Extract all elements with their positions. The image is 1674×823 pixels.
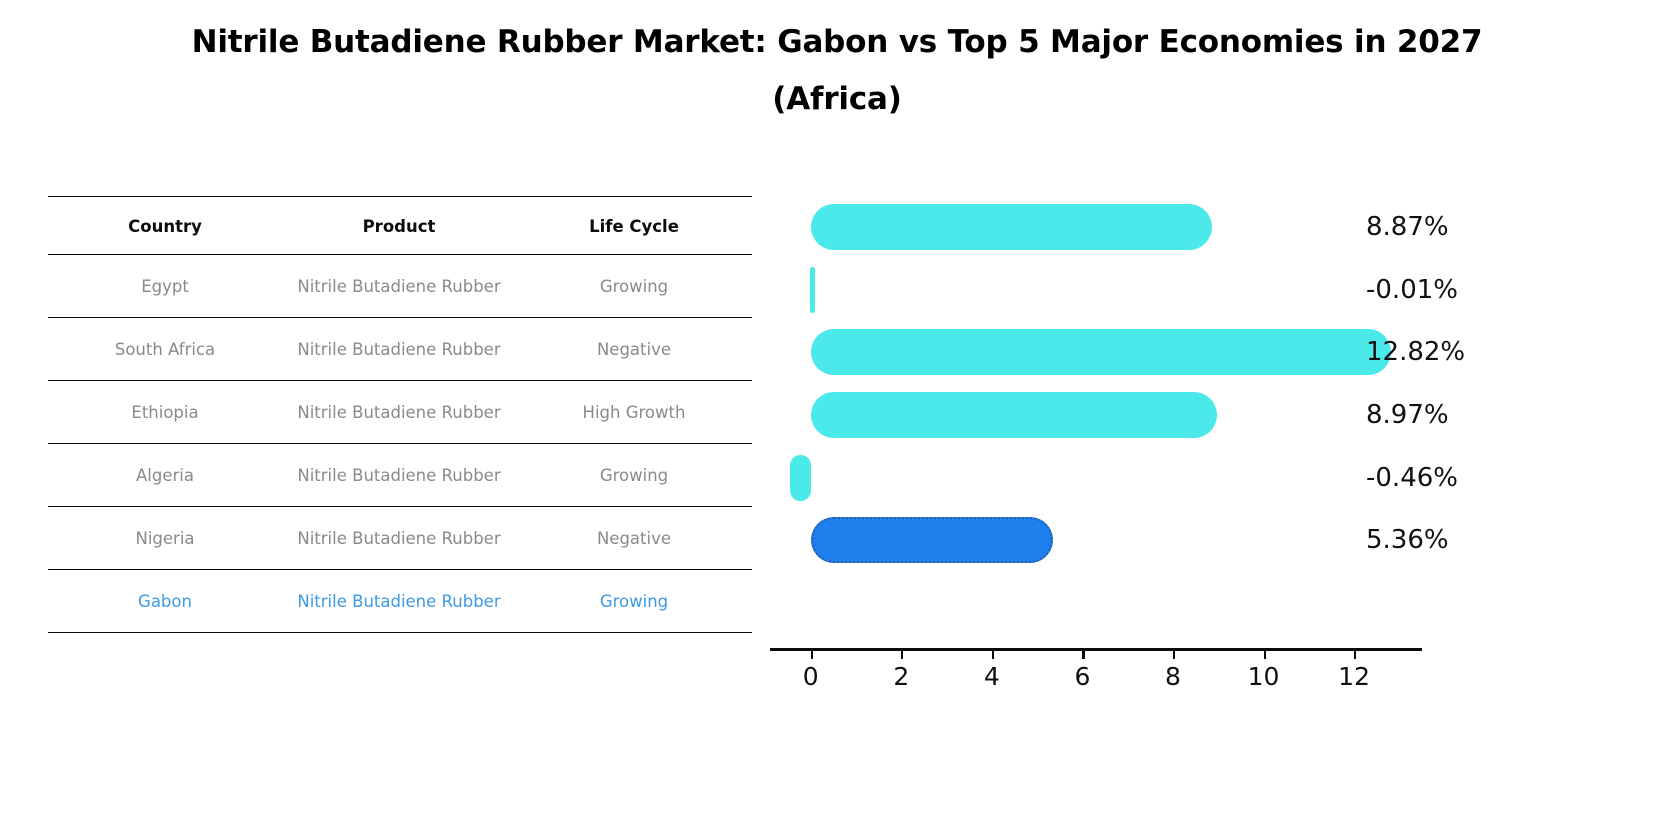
bar-value-label: 8.87% — [1366, 212, 1449, 242]
table-row: NigeriaNitrile Butadiene RubberNegative — [48, 507, 752, 570]
x-axis-tick-label: 8 — [1165, 662, 1181, 691]
table-row: AlgeriaNitrile Butadiene RubberGrowing — [48, 444, 752, 507]
x-axis-line — [770, 648, 1422, 651]
bar-value-label: 8.97% — [1366, 400, 1449, 430]
cell-life-cycle: High Growth — [516, 381, 752, 444]
bar-ethiopia[interactable] — [811, 329, 1391, 375]
x-axis-tick — [1173, 648, 1175, 659]
market-table-panel: Country Product Life Cycle EgyptNitrile … — [48, 196, 752, 633]
x-axis-tick — [811, 648, 813, 659]
table-row: EthiopiaNitrile Butadiene RubberHigh Gro… — [48, 381, 752, 444]
column-header-life-cycle: Life Cycle — [516, 197, 752, 255]
cell-life-cycle: Growing — [516, 255, 752, 318]
x-axis-tick — [992, 648, 994, 659]
cell-life-cycle: Growing — [516, 570, 752, 633]
table-header-row: Country Product Life Cycle — [48, 197, 752, 255]
cell-country: Gabon — [48, 570, 282, 633]
cell-life-cycle: Growing — [516, 444, 752, 507]
bar-row: 8.87% — [770, 196, 1422, 259]
x-axis-tick-label: 10 — [1248, 662, 1280, 691]
x-axis-tick — [1082, 648, 1084, 659]
x-axis-tick-label: 12 — [1338, 662, 1370, 691]
cell-country: South Africa — [48, 318, 282, 381]
x-axis-tick-label: 2 — [893, 662, 909, 691]
cell-country: Ethiopia — [48, 381, 282, 444]
bar-track — [770, 446, 1422, 509]
bar-row: 5.36% — [770, 509, 1422, 572]
table-header: Country Product Life Cycle — [48, 197, 752, 255]
x-axis-tick-label: 0 — [803, 662, 819, 691]
bar-value-label: -0.01% — [1366, 275, 1458, 305]
bar-gabon[interactable] — [811, 517, 1054, 563]
table-row: GabonNitrile Butadiene RubberGrowing — [48, 570, 752, 633]
cell-country: Egypt — [48, 255, 282, 318]
bar-row: -0.01% — [770, 259, 1422, 322]
cell-product: Nitrile Butadiene Rubber — [282, 318, 516, 381]
table-row: South AfricaNitrile Butadiene RubberNega… — [48, 318, 752, 381]
cell-product: Nitrile Butadiene Rubber — [282, 570, 516, 633]
page-title-line-2: (Africa) — [0, 71, 1674, 128]
cell-product: Nitrile Butadiene Rubber — [282, 255, 516, 318]
bar-track — [770, 509, 1422, 572]
page-title-line-1: Nitrile Butadiene Rubber Market: Gabon v… — [0, 14, 1674, 71]
x-axis: 024681012 — [770, 648, 1422, 728]
bar-egypt[interactable] — [811, 204, 1213, 250]
bar-value-label: 5.36% — [1366, 525, 1449, 555]
bar-value-label: -0.46% — [1366, 463, 1458, 493]
bar-row: 12.82% — [770, 321, 1422, 384]
x-axis-tick — [1264, 648, 1266, 659]
x-axis-tick — [901, 648, 903, 659]
bar-track — [770, 321, 1422, 384]
cell-country: Algeria — [48, 444, 282, 507]
cell-country: Nigeria — [48, 507, 282, 570]
cell-life-cycle: Negative — [516, 318, 752, 381]
bar-nigeria[interactable] — [790, 455, 811, 501]
content-area: Country Product Life Cycle EgyptNitrile … — [0, 196, 1674, 756]
bar-algeria[interactable] — [811, 392, 1217, 438]
column-header-country: Country — [48, 197, 282, 255]
bar-track — [770, 196, 1422, 259]
page-title: Nitrile Butadiene Rubber Market: Gabon v… — [0, 0, 1674, 129]
bar-row: 8.97% — [770, 384, 1422, 447]
column-header-product: Product — [282, 197, 516, 255]
table-row: EgyptNitrile Butadiene RubberGrowing — [48, 255, 752, 318]
bar-track — [770, 384, 1422, 447]
bar-chart-plot-area: 8.87%-0.01%12.82%8.97%-0.46%5.36% — [770, 196, 1422, 648]
x-axis-tick — [1354, 648, 1356, 659]
bar-chart-panel: 8.87%-0.01%12.82%8.97%-0.46%5.36% 024681… — [752, 196, 1652, 756]
cell-life-cycle: Negative — [516, 507, 752, 570]
table-body: EgyptNitrile Butadiene RubberGrowingSout… — [48, 255, 752, 633]
bar-track — [770, 259, 1422, 322]
cell-product: Nitrile Butadiene Rubber — [282, 381, 516, 444]
bar-row: -0.46% — [770, 446, 1422, 509]
x-axis-tick-label: 6 — [1074, 662, 1090, 691]
cell-product: Nitrile Butadiene Rubber — [282, 507, 516, 570]
market-table: Country Product Life Cycle EgyptNitrile … — [48, 196, 752, 633]
bar-value-label: 12.82% — [1366, 337, 1465, 367]
bar-south-africa[interactable] — [810, 267, 815, 313]
cell-product: Nitrile Butadiene Rubber — [282, 444, 516, 507]
x-axis-tick-label: 4 — [984, 662, 1000, 691]
